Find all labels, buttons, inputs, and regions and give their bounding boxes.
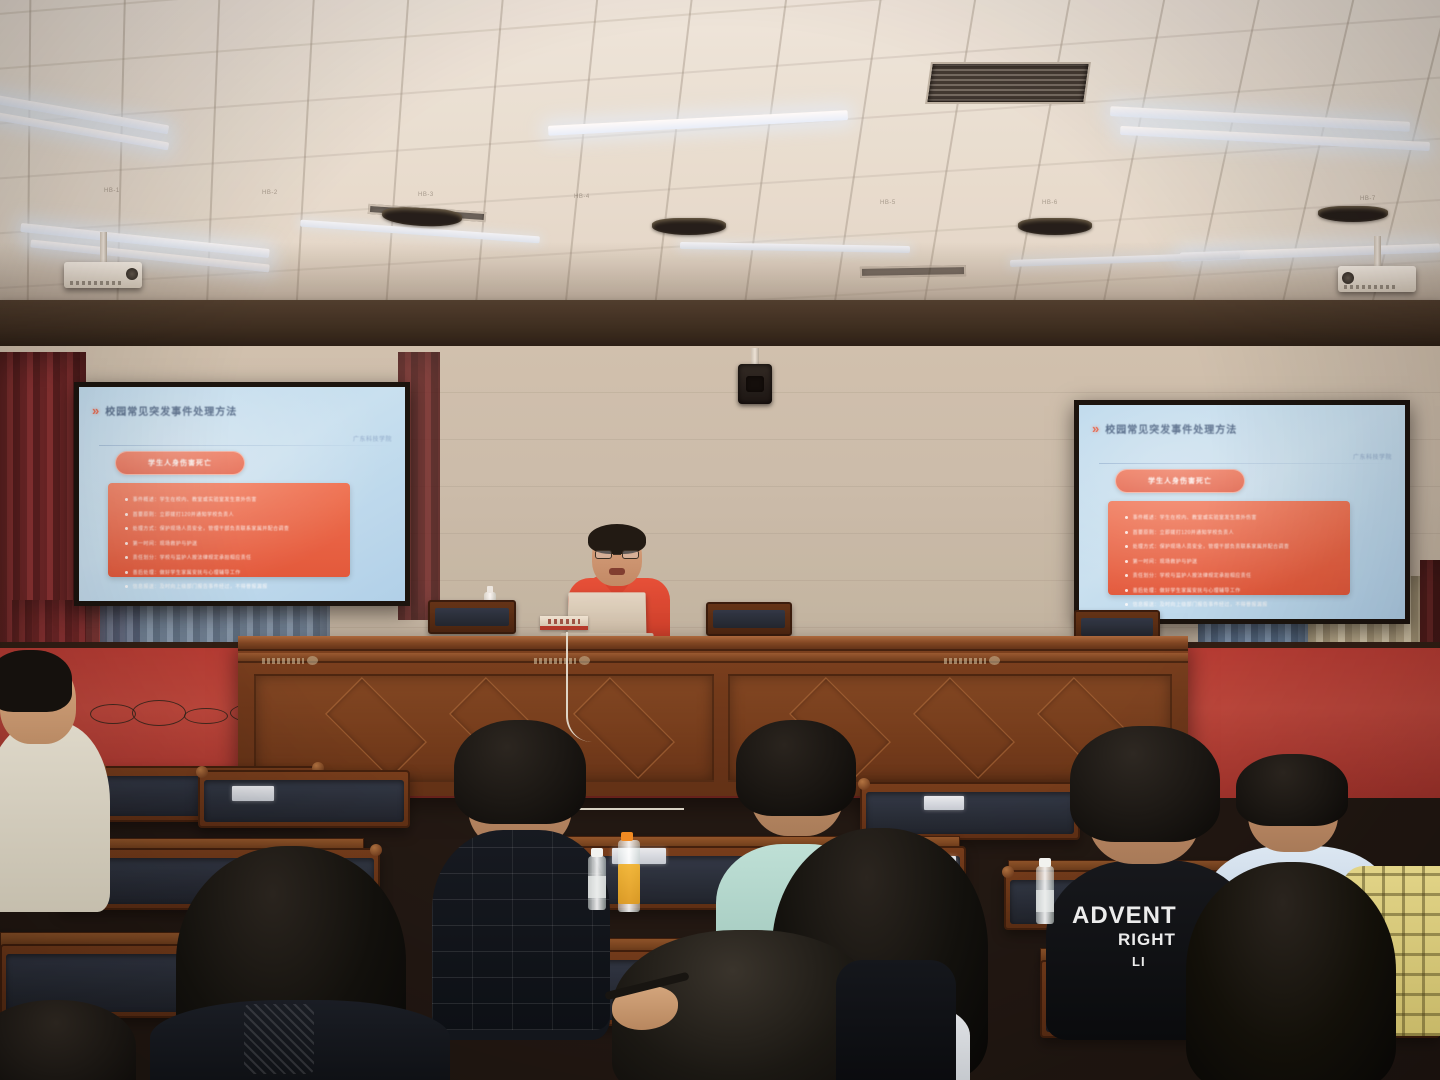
slide-bullet-text: 第一时间：现场救护与护送 xyxy=(1133,558,1198,565)
slide-left-title: 校园常见突发事件处理方法 xyxy=(105,403,237,418)
slide-right-logo: 广东科技学院 xyxy=(1353,452,1392,461)
slide-bullet: 首要原则：立即拨打120并通知学校负责人 xyxy=(125,511,334,518)
glasses-icon xyxy=(595,550,639,559)
slide-bullet: 责任划分：学校与监护人按法律规定承担相应责任 xyxy=(1125,572,1334,579)
bench-knob xyxy=(1002,866,1014,878)
slide-bullet: 信息报送：及时向上级部门报告事件经过，不得瞢报漏报 xyxy=(125,583,334,590)
slide-bullet-text: 处理方式：保护现场人员安全，管理干部负责联系家属并配合调查 xyxy=(1133,543,1290,550)
slide-bullet: 处理方式：保护现场人员安全，管理干部负责联系家属并配合调查 xyxy=(1125,543,1334,550)
juice-bottle xyxy=(618,840,640,912)
tshirt-text-line-3: LI xyxy=(1132,954,1146,969)
bottle-label xyxy=(618,864,640,904)
slide-bullet-text: 信息报送：及时向上级部门报告事件经过，不得瞢报漏报 xyxy=(133,583,268,590)
bench-monitor xyxy=(924,796,964,810)
podium-top-surface xyxy=(238,636,1188,651)
ceiling-speaker xyxy=(1318,206,1388,222)
bullet-dot-icon xyxy=(1125,516,1128,519)
slide-bullet-text: 信息报送：及时向上级部门报告事件经过，不得瞢报漏报 xyxy=(1133,601,1268,608)
person-patterned-shirt xyxy=(432,830,610,1030)
lecture-hall-photo: HB-1 HB-2 HB-3 HB-4 HB-5 HB-6 HB-7 » xyxy=(0,0,1440,1080)
slide-left-header: » 校园常见突发事件处理方法 xyxy=(79,387,405,434)
chevron-icon: » xyxy=(92,403,97,418)
water-bottle xyxy=(1036,866,1054,924)
cable-loop xyxy=(184,708,228,724)
bottle-label xyxy=(588,876,606,898)
tile-mark: HB-7 xyxy=(1360,196,1376,202)
spotlight-housing xyxy=(738,364,772,404)
cable-loop xyxy=(132,700,186,726)
slide-bullet: 处理方式：保护现场人员安全，管理干部负责联系家属并配合调查 xyxy=(125,525,334,532)
slide-bullet-text: 责任划分：学校与监护人按法律规定承担相应责任 xyxy=(133,554,252,561)
slide-left-subtitle-pill: 学生人身伤害死亡 xyxy=(115,451,245,475)
bullet-dot-icon xyxy=(125,585,128,588)
presenter-mouth xyxy=(609,568,625,575)
slide-bullet: 信息报送：及时向上级部门报告事件经过，不得瞢报漏报 xyxy=(1125,601,1334,608)
slide-bullet: 事件概述：学生在校内、教室或实验室发生意外伤害 xyxy=(125,496,334,503)
slide-bullet-text: 处理方式：保护现场人员安全，管理干部负责联系家属并配合调查 xyxy=(133,525,290,532)
tile-mark: HB-3 xyxy=(418,192,434,198)
slide-bullet: 责任划分：学校与监护人按法律规定承担相应责任 xyxy=(125,554,334,561)
slide-right-subtitle-text: 学生人身伤害死亡 xyxy=(1148,476,1212,486)
slide-bullet: 善后处理：做好学生家属安抚与心理辅导工作 xyxy=(125,569,334,576)
projection-screen-left: » 校园常见突发事件处理方法 广东科技学院 学生人身伤害死亡 事件概述：学生在校… xyxy=(74,382,410,606)
slide-right-body: 事件概述：学生在校内、教室或实验室发生意外伤害首要原则：立即拨打120并通知学校… xyxy=(1108,501,1349,595)
projector-mount-pole xyxy=(1374,236,1381,270)
bullet-dot-icon xyxy=(125,571,128,574)
podium-chair xyxy=(706,602,792,636)
desk-nameplate xyxy=(540,616,588,630)
tile-mark: HB-5 xyxy=(880,200,896,206)
podium-mic-plate xyxy=(262,658,304,664)
bullet-dot-icon xyxy=(1125,589,1128,592)
tile-mark: HB-1 xyxy=(104,188,120,194)
slide-bullet-text: 善后处理：做好学生家属安抚与心理辅导工作 xyxy=(1133,587,1241,594)
slide-right-header: » 校园常见突发事件处理方法 xyxy=(1079,405,1405,452)
slide-left-title-rule xyxy=(99,445,392,446)
projector-lens xyxy=(126,268,138,280)
bench-knob xyxy=(196,766,208,778)
bullet-dot-icon xyxy=(125,498,128,501)
audience-member xyxy=(0,650,116,910)
backpack xyxy=(836,960,956,1080)
projector-lens xyxy=(1342,272,1354,284)
ceiling-projector-left xyxy=(64,232,142,292)
bottle-cap xyxy=(1039,858,1051,867)
tshirt-text-line-2: RIGHT xyxy=(1118,930,1176,950)
tile-mark: HB-4 xyxy=(574,194,590,200)
slide-bullet-text: 责任划分：学校与监护人按法律规定承担相应责任 xyxy=(1133,572,1252,579)
podium-diamond-inlay xyxy=(325,677,427,779)
person-hair xyxy=(454,720,586,824)
bottle-label xyxy=(1036,890,1054,912)
water-bottle xyxy=(588,856,606,910)
slide-right: » 校园常见突发事件处理方法 广东科技学院 学生人身伤害死亡 事件概述：学生在校… xyxy=(1079,405,1405,619)
tshirt-text-line-1: ADVENT xyxy=(1072,902,1177,930)
slide-right-subtitle-pill: 学生人身伤害死亡 xyxy=(1115,469,1245,493)
slide-bullet-text: 首要原则：立即拨打120并通知学校负责人 xyxy=(133,511,234,518)
tile-mark: HB-6 xyxy=(1042,200,1058,206)
bullet-dot-icon xyxy=(1125,603,1128,606)
slide-left-subtitle-text: 学生人身伤害死亡 xyxy=(148,458,212,468)
podium-chair xyxy=(428,600,516,634)
ceiling: HB-1 HB-2 HB-3 HB-4 HB-5 HB-6 HB-7 xyxy=(0,0,1440,312)
slide-bullet-text: 事件概述：学生在校内、教室或实验室发生意外伤害 xyxy=(133,496,257,503)
podium-trim-rail xyxy=(238,653,1188,663)
ceiling-projector-right xyxy=(1338,236,1416,296)
chevron-icon: » xyxy=(1092,421,1097,436)
bottle-cap xyxy=(591,848,603,857)
slide-right-title-rule xyxy=(1099,463,1392,464)
bottle-cap xyxy=(621,832,633,841)
slide-bullet-text: 第一时间：现场救护与护送 xyxy=(133,540,198,547)
tile-mark: HB-2 xyxy=(262,190,278,196)
person-hair-long xyxy=(1186,862,1396,1080)
bullet-dot-icon xyxy=(125,527,128,530)
person-hair xyxy=(0,650,72,712)
podium-mic-plate xyxy=(944,658,986,664)
bullet-dot-icon xyxy=(1125,531,1128,534)
backpack-strap-detail xyxy=(244,1004,314,1074)
slide-bullet-text: 善后处理：做好学生家属安抚与心理辅导工作 xyxy=(133,569,241,576)
bullet-dot-icon xyxy=(125,513,128,516)
slide-bullet: 第一时间：现场救护与护送 xyxy=(1125,558,1334,565)
ceiling-speaker xyxy=(1018,218,1092,235)
stage-spotlight xyxy=(738,348,772,404)
bullet-dot-icon xyxy=(125,542,128,545)
projection-screen-right: » 校园常见突发事件处理方法 广东科技学院 学生人身伤害死亡 事件概述：学生在校… xyxy=(1074,400,1410,624)
person-hair xyxy=(736,720,856,816)
bullet-dot-icon xyxy=(1125,545,1128,548)
person-torso xyxy=(0,722,110,912)
bench-row xyxy=(198,770,410,828)
slide-left-body: 事件概述：学生在校内、教室或实验室发生意外伤害首要原则：立即拨打120并通知学校… xyxy=(108,483,349,577)
slide-bullet-text: 首要原则：立即拨打120并通知学校负责人 xyxy=(1133,529,1234,536)
hvac-diffuser xyxy=(925,62,1091,104)
person-hair xyxy=(1070,726,1220,842)
slide-bullet: 善后处理：做好学生家属安抚与心理辅导工作 xyxy=(1125,587,1334,594)
slide-bullet: 首要原则：立即拨打120并通知学校负责人 xyxy=(1125,529,1334,536)
slide-bullet: 事件概述：学生在校内、教室或实验室发生意外伤害 xyxy=(1125,514,1334,521)
slide-left-logo: 广东科技学院 xyxy=(353,434,392,443)
podium-diamond-inlay xyxy=(913,677,1015,779)
bullet-dot-icon xyxy=(1125,574,1128,577)
projector-mount-pole xyxy=(100,232,107,266)
slide-bullet: 第一时间：现场救护与护送 xyxy=(125,540,334,547)
stage-valance-beam xyxy=(0,300,1440,348)
ceiling-speaker xyxy=(652,218,726,235)
slide-left: » 校园常见突发事件处理方法 广东科技学院 学生人身伤害死亡 事件概述：学生在校… xyxy=(79,387,405,601)
slide-right-title: 校园常见突发事件处理方法 xyxy=(1105,421,1237,436)
audience-member xyxy=(1186,862,1396,1080)
bullet-dot-icon xyxy=(125,556,128,559)
bullet-dot-icon xyxy=(1125,560,1128,563)
slide-bullet-text: 事件概述：学生在校内、教室或实验室发生意外伤害 xyxy=(1133,514,1257,521)
bench-monitor xyxy=(232,786,274,801)
